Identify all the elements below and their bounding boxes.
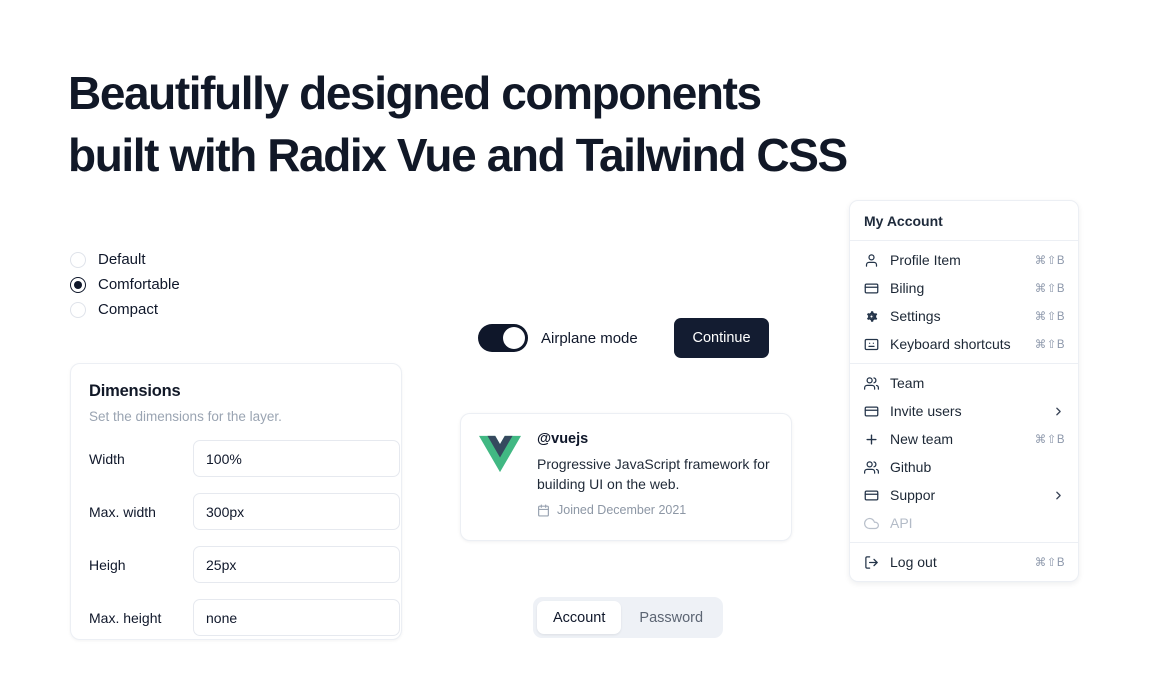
field-label: Width <box>89 451 193 467</box>
menu-item-label: Log out <box>890 554 1024 570</box>
height-input[interactable] <box>193 546 400 583</box>
page-root: Beautifully designed components built wi… <box>0 0 1152 700</box>
switch-label: Airplane mode <box>541 330 638 347</box>
menu-item-label: New team <box>890 431 1024 447</box>
menu-item-support[interactable]: Suppor <box>850 481 1078 509</box>
keyboard-icon <box>863 336 879 352</box>
menu-item-shortcut: ⌘⇧B <box>1035 253 1065 267</box>
calendar-icon <box>537 504 550 517</box>
menu-item-shortcut: ⌘⇧B <box>1035 337 1065 351</box>
menu-item-api: API <box>850 509 1078 537</box>
users-icon <box>863 375 879 391</box>
hover-card-handle: @vuejs <box>537 431 773 447</box>
field-label: Max. height <box>89 610 193 626</box>
menu-item-label: Github <box>890 459 1065 475</box>
radio-label: Compact <box>98 302 158 317</box>
page-title-line-2: built with Radix Vue and Tailwind CSS <box>68 124 1028 186</box>
menu-group-account: Profile Item ⌘⇧B Biling ⌘⇧B <box>850 241 1078 363</box>
tab-password[interactable]: Password <box>623 601 719 634</box>
radio-label: Default <box>98 252 146 267</box>
menu-item-shortcut: ⌘⇧B <box>1035 309 1065 323</box>
menu-item-shortcut: ⌘⇧B <box>1035 281 1065 295</box>
gear-icon <box>863 308 879 324</box>
vue-logo-icon <box>479 433 521 471</box>
menu-item-shortcut: ⌘⇧B <box>1035 555 1065 569</box>
tab-account[interactable]: Account <box>537 601 621 634</box>
chevron-right-icon <box>1052 405 1065 418</box>
dimensions-row-width: Width <box>89 440 381 477</box>
menu-item-label: Invite users <box>890 403 1041 419</box>
dimensions-row-height: Heigh <box>89 546 381 583</box>
hover-card-body: @vuejs Progressive JavaScript framework … <box>537 431 773 523</box>
menu-item-invite-users[interactable]: Invite users <box>850 397 1078 425</box>
airplane-mode-switch[interactable] <box>478 324 528 352</box>
width-input[interactable] <box>193 440 400 477</box>
menu-item-label: Suppor <box>890 487 1041 503</box>
joined-text: Joined December 2021 <box>557 503 686 517</box>
menu-item-label: Team <box>890 375 1065 391</box>
menu-item-keyboard-shortcuts[interactable]: Keyboard shortcuts ⌘⇧B <box>850 330 1078 358</box>
menu-header: My Account <box>850 201 1078 240</box>
logout-icon <box>863 554 879 570</box>
user-icon <box>863 252 879 268</box>
field-label: Heigh <box>89 557 193 573</box>
dimensions-title: Dimensions <box>89 382 381 401</box>
account-dropdown-menu: My Account Profile Item ⌘⇧B <box>849 200 1079 582</box>
menu-item-label: Settings <box>890 308 1024 324</box>
users-icon <box>863 459 879 475</box>
airplane-mode-switch-group: Airplane mode <box>478 324 638 352</box>
radio-option-comfortable[interactable]: Comfortable <box>70 272 320 297</box>
credit-card-icon <box>863 280 879 296</box>
radio-indicator-icon[interactable] <box>70 302 86 318</box>
menu-item-log-out[interactable]: Log out ⌘⇧B <box>850 548 1078 576</box>
hover-card-joined: Joined December 2021 <box>537 503 773 517</box>
chevron-right-icon <box>1052 489 1065 502</box>
plus-icon <box>863 431 879 447</box>
page-title-line-1: Beautifully designed components <box>68 62 1028 124</box>
max-width-input[interactable] <box>193 493 400 530</box>
radio-indicator-selected-icon[interactable] <box>70 277 86 293</box>
menu-item-billing[interactable]: Biling ⌘⇧B <box>850 274 1078 302</box>
credit-card-icon <box>863 487 879 503</box>
menu-item-label: API <box>890 515 1065 531</box>
dimensions-card: Dimensions Set the dimensions for the la… <box>70 363 402 640</box>
radio-option-default[interactable]: Default <box>70 247 320 272</box>
menu-group-team: Team Invite users <box>850 364 1078 542</box>
menu-item-label: Profile Item <box>890 252 1024 268</box>
dimensions-subtitle: Set the dimensions for the layer. <box>89 409 381 424</box>
account-tabs: Account Password <box>533 597 723 638</box>
page-title: Beautifully designed components built wi… <box>68 62 1028 186</box>
menu-item-shortcut: ⌘⇧B <box>1035 432 1065 446</box>
menu-item-profile[interactable]: Profile Item ⌘⇧B <box>850 246 1078 274</box>
menu-item-new-team[interactable]: New team ⌘⇧B <box>850 425 1078 453</box>
density-radio-group: Default Comfortable Compact <box>70 247 320 322</box>
radio-option-compact[interactable]: Compact <box>70 297 320 322</box>
menu-item-team[interactable]: Team <box>850 369 1078 397</box>
switch-knob <box>503 327 525 349</box>
vuejs-hover-card: @vuejs Progressive JavaScript framework … <box>460 413 792 541</box>
menu-item-github[interactable]: Github <box>850 453 1078 481</box>
radio-label: Comfortable <box>98 277 180 292</box>
hover-card-description: Progressive JavaScript framework for bui… <box>537 454 773 494</box>
radio-indicator-icon[interactable] <box>70 252 86 268</box>
continue-button[interactable]: Continue <box>674 318 769 358</box>
max-height-input[interactable] <box>193 599 400 636</box>
credit-card-icon <box>863 403 879 419</box>
dimensions-row-max-height: Max. height <box>89 599 381 636</box>
dimensions-row-max-width: Max. width <box>89 493 381 530</box>
field-label: Max. width <box>89 504 193 520</box>
menu-group-session: Log out ⌘⇧B <box>850 543 1078 581</box>
menu-item-label: Biling <box>890 280 1024 296</box>
cloud-icon <box>863 515 879 531</box>
menu-item-settings[interactable]: Settings ⌘⇧B <box>850 302 1078 330</box>
menu-item-label: Keyboard shortcuts <box>890 336 1024 352</box>
